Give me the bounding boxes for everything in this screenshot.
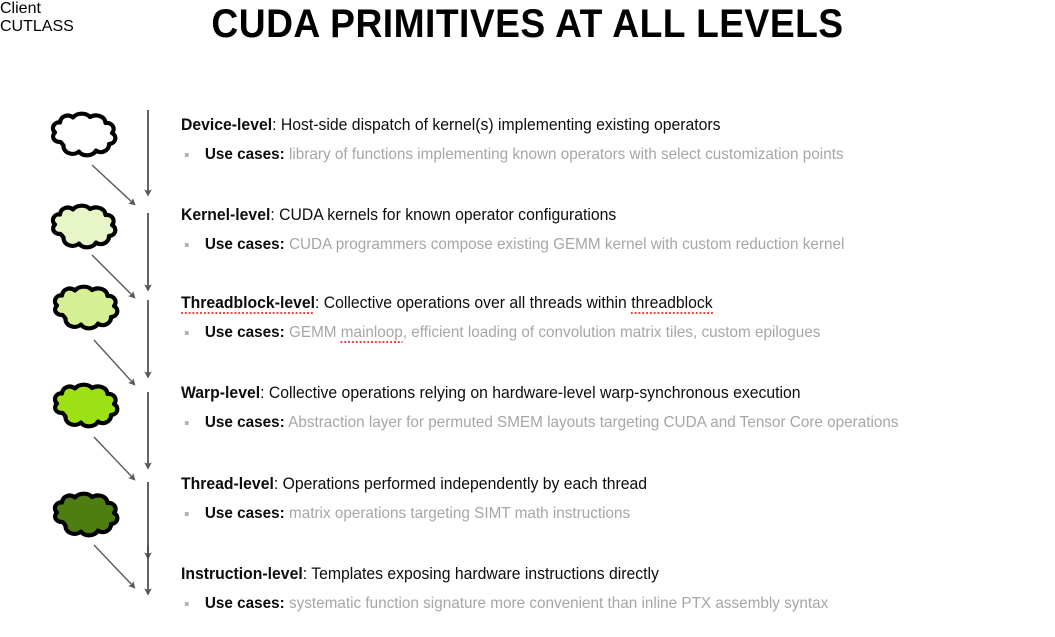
level-usecase-instruction: Use cases: systematic function signature… [181, 593, 1012, 614]
usecase-label: Use cases: [205, 595, 285, 612]
bullet-icon [185, 243, 189, 247]
level-usecase-device: Use cases: library of functions implemen… [181, 144, 1012, 165]
usecase-text: , efficient loading of convolution matri… [403, 324, 821, 341]
usecase-label: Use cases: [205, 146, 285, 163]
level-usecase-kernel: Use cases: CUDA programmers compose exis… [181, 234, 1012, 255]
bullet-icon [185, 512, 189, 516]
level-name-device: Device-level [181, 116, 272, 134]
level-description-device: : Host-side dispatch of kernel(s) implem… [272, 116, 720, 134]
level-heading-instruction: Instruction-level: Templates exposing ha… [181, 564, 1012, 585]
bullet-icon [185, 153, 189, 157]
level-description-thread: : Operations performed independently by … [274, 475, 647, 493]
usecase-text: systematic function signature more conve… [289, 595, 828, 612]
level-block-device: Device-level: Host-side dispatch of kern… [181, 115, 1051, 165]
level-description-threadblock-misspelled-word: threadblock [631, 294, 712, 314]
level-heading-thread: Thread-level: Operations performed indep… [181, 474, 1012, 495]
level-heading-threadblock: Threadblock-level: Collective operations… [181, 293, 1012, 314]
level-name-kernel: Kernel-level [181, 206, 270, 224]
level-description-instruction: : Templates exposing hardware instructio… [303, 565, 659, 583]
usecase-label: Use cases: [205, 236, 285, 253]
usecase-text: Abstraction layer for permuted SMEM layo… [288, 414, 898, 431]
level-heading-device: Device-level: Host-side dispatch of kern… [181, 115, 1012, 136]
level-name-instruction: Instruction-level [181, 565, 303, 583]
level-block-instruction: Instruction-level: Templates exposing ha… [181, 564, 1051, 614]
usecase-label: Use cases: [205, 505, 285, 522]
level-block-warp: Warp-level: Collective operations relyin… [181, 383, 1051, 433]
bullet-icon [185, 602, 189, 606]
level-name-threadblock: Threadblock-level [181, 294, 315, 314]
level-block-kernel: Kernel-level: CUDA kernels for known ope… [181, 205, 1051, 255]
level-description-kernel: : CUDA kernels for known operator config… [270, 206, 616, 224]
level-heading-kernel: Kernel-level: CUDA kernels for known ope… [181, 205, 1012, 226]
usecase-misspelled-word: mainloop [341, 324, 403, 343]
level-name-warp: Warp-level [181, 384, 260, 402]
usecase-label: Use cases: [205, 324, 285, 341]
bullet-icon [185, 331, 189, 335]
levels-list: Device-level: Host-side dispatch of kern… [0, 0, 1055, 637]
level-usecase-warp: Use cases: Abstraction layer for permute… [181, 412, 1012, 433]
level-description-warp: : Collective operations relying on hardw… [260, 384, 800, 402]
usecase-text: library of functions implementing known … [289, 146, 844, 163]
usecase-text: matrix operations targeting SIMT math in… [289, 505, 630, 522]
level-name-thread: Thread-level [181, 475, 274, 493]
bullet-icon [185, 421, 189, 425]
level-usecase-thread: Use cases: matrix operations targeting S… [181, 503, 1012, 524]
usecase-label: Use cases: [205, 414, 285, 431]
usecase-text: CUDA programmers compose existing GEMM k… [289, 236, 844, 253]
level-description-threadblock: : Collective operations over all threads… [315, 294, 631, 312]
level-block-thread: Thread-level: Operations performed indep… [181, 474, 1051, 524]
level-heading-warp: Warp-level: Collective operations relyin… [181, 383, 1012, 404]
level-usecase-threadblock: Use cases: GEMM mainloop, efficient load… [181, 322, 1012, 343]
usecase-text-prefix: GEMM [289, 324, 341, 341]
level-block-threadblock: Threadblock-level: Collective operations… [181, 293, 1051, 343]
